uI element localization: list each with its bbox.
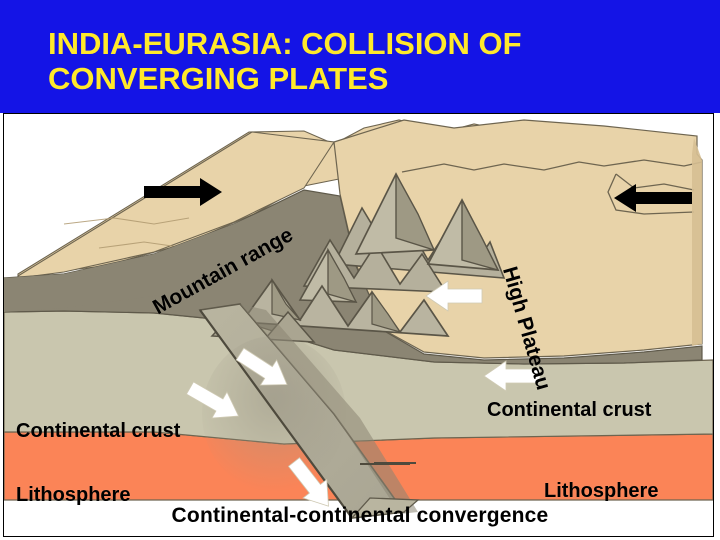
geologic-cross-section-svg — [4, 114, 713, 536]
plateau-right-shading — [692, 138, 702, 346]
label-lithosphere-right: Lithosphere — [544, 480, 658, 503]
figure-caption: Continental-continental convergence — [0, 504, 720, 528]
label-continental-crust-left: Continental crust — [16, 420, 180, 443]
label-continental-crust-right: Continental crust — [487, 399, 651, 422]
slide-canvas: INDIA-EURASIA: COLLISION OF CONVERGING P… — [0, 0, 720, 540]
cross-section-figure: Mountain range High Plateau Continental … — [3, 113, 714, 537]
page-title: INDIA-EURASIA: COLLISION OF CONVERGING P… — [48, 26, 698, 96]
title-banner: INDIA-EURASIA: COLLISION OF CONVERGING P… — [0, 0, 720, 113]
